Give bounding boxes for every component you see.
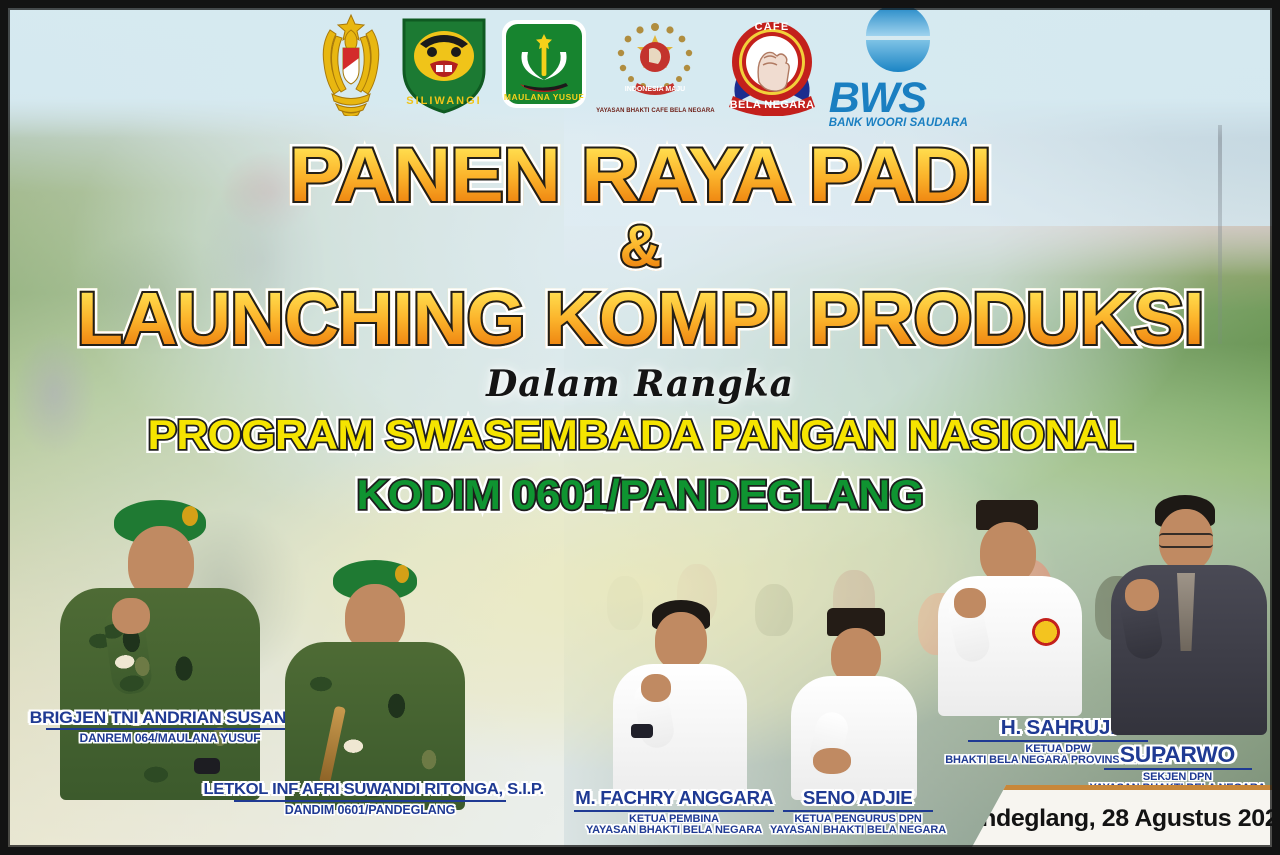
beret-badge [395, 565, 409, 583]
nameplate-name: LETKOL INF AFRI SUWANDI RITONGA, S.I.P. [203, 782, 543, 799]
kodam-siliwangi-emblem-graphic: SILIWANGI [396, 12, 492, 116]
nameplate-name: SUPARWO [1120, 743, 1235, 766]
cafe-bela-negara-emblem: BELA NEGARA CAFE [721, 12, 823, 116]
bank-woori-saudara-logo: BWS BANK WOORI SAUDARA [829, 0, 968, 128]
yayasan-bhakti-cafe-bela-negara-emblem-graphic: INDONESIA MAJU [607, 15, 703, 107]
nameplate-name: M. FACHRY ANGGARA [575, 789, 773, 808]
headline-line2-row: LAUNCHING KOMPI PRODUKSI LAUNCHING KOMPI… [0, 276, 1280, 361]
face [655, 612, 707, 670]
nameplate-name: H. SAHRUJI [1001, 718, 1116, 739]
clenched-fist [1125, 579, 1159, 611]
nameplate-sub1: DANDIM 0601/PANDEGLANG [210, 804, 530, 817]
nameplate-rule [1104, 768, 1252, 770]
wristwatch [631, 724, 653, 738]
beret-badge [182, 506, 198, 526]
korem-maulana-yusuf-emblem: MAULANA YUSUF [498, 18, 590, 110]
eyeglasses-icon [1159, 533, 1213, 548]
svg-text:CAFE: CAFE [754, 21, 789, 33]
svg-text:SILIWANGI: SILIWANGI [406, 95, 481, 107]
party-badge-icon [1032, 618, 1060, 646]
nameplate-name: BRIGJEN TNI ANDRIAN SUSANTO [30, 709, 310, 727]
nameplate-rule [234, 800, 506, 802]
headline-block: PANEN RAYA PADI PANEN RAYA PADI PANEN RA… [0, 130, 1280, 519]
nameplate-sub2: YAYASAN BHAKTI BELA NEGARA [768, 825, 948, 837]
korem-maulana-yusuf-emblem-graphic: MAULANA YUSUF [498, 18, 590, 110]
date-banner-text: Pandeglang, 28 Agustus 2025 [952, 805, 1280, 833]
figure-letkol [275, 560, 495, 810]
nameplate-rule [783, 810, 933, 812]
figure-suparwo [1105, 495, 1275, 735]
date-banner: Pandeglang, 28 Agustus 2025 [972, 785, 1272, 847]
yayasan-bhakti-cafe-caption: YAYASAN BHAKTI CAFE BELA NEGARA [596, 108, 715, 114]
headline-line1: PANEN RAYA PADI PANEN RAYA PADI PANEN RA… [309, 132, 971, 219]
svg-text:INDONESIA MAJU: INDONESIA MAJU [625, 86, 685, 93]
logo-row: SILIWANGI MAULANA YUSUF [0, 8, 1280, 120]
tni-ad-emblem [312, 12, 390, 116]
bws-mark-icon [862, 0, 934, 72]
nameplate-rule [574, 810, 774, 812]
yayasan-bhakti-cafe-bela-negara-emblem: INDONESIA MAJU YAYASAN BHAKTI CAFE BELA … [596, 15, 715, 114]
nameplate-seno: SENO ADJIE KETUA PENGURUS DPN YAYASAN BH… [768, 789, 948, 837]
bws-brand-text: BWS [829, 79, 968, 118]
nameplate-fachry: M. FACHRY ANGGARA KETUA PEMBINA YAYASAN … [558, 789, 790, 837]
kodam-siliwangi-emblem: SILIWANGI [396, 12, 492, 116]
clenched-fist [112, 598, 150, 634]
camouflage-uniform [60, 588, 260, 800]
figure-brigjen [42, 500, 292, 800]
nameplate-name: SENO ADJIE [803, 789, 913, 808]
headline-ampersand: & & & [620, 213, 661, 280]
face [980, 522, 1036, 584]
figure-sahruji [930, 500, 1090, 715]
tni-ad-emblem-graphic [312, 12, 390, 116]
wristwatch [194, 758, 220, 774]
nameplate-rule [46, 728, 294, 730]
figure-seno [785, 608, 925, 800]
headline-program-line: PROGRAM SWASEMBADA PANGAN NASIONAL PROGR… [171, 411, 1110, 459]
poster-root: SILIWANGI MAULANA YUSUF [0, 0, 1280, 855]
nameplate-sub2: YAYASAN BHAKTI BELA NEGARA [558, 825, 790, 837]
nameplate-letkol: LETKOL INF AFRI SUWANDI RITONGA, S.I.P. … [210, 782, 530, 817]
headline-ampersand-row: & & & [0, 213, 1280, 280]
clenched-fist [954, 588, 986, 618]
headline-script-line: Dalam Rangka [0, 363, 1280, 405]
clenched-fist [641, 674, 671, 702]
white-koko-shirt [791, 676, 917, 800]
bws-brand-subtext: BANK WOORI SAUDARA [829, 118, 968, 128]
svg-text:BELA NEGARA: BELA NEGARA [729, 99, 814, 111]
headline-line2: LAUNCHING KOMPI PRODUKSI LAUNCHING KOMPI… [93, 276, 1187, 361]
headline-unit-line: KODIM 0601/PANDEGLANG KODIM 0601/PANDEGL… [370, 471, 910, 519]
pointing-hand [813, 748, 851, 774]
figure-fachry [605, 600, 755, 800]
headline-program-row: PROGRAM SWASEMBADA PANGAN NASIONAL PROGR… [0, 411, 1280, 459]
headline-line1-row: PANEN RAYA PADI PANEN RAYA PADI PANEN RA… [0, 132, 1280, 219]
svg-text:MAULANA YUSUF: MAULANA YUSUF [504, 92, 584, 102]
cafe-bela-negara-emblem-graphic: BELA NEGARA CAFE [721, 12, 823, 116]
